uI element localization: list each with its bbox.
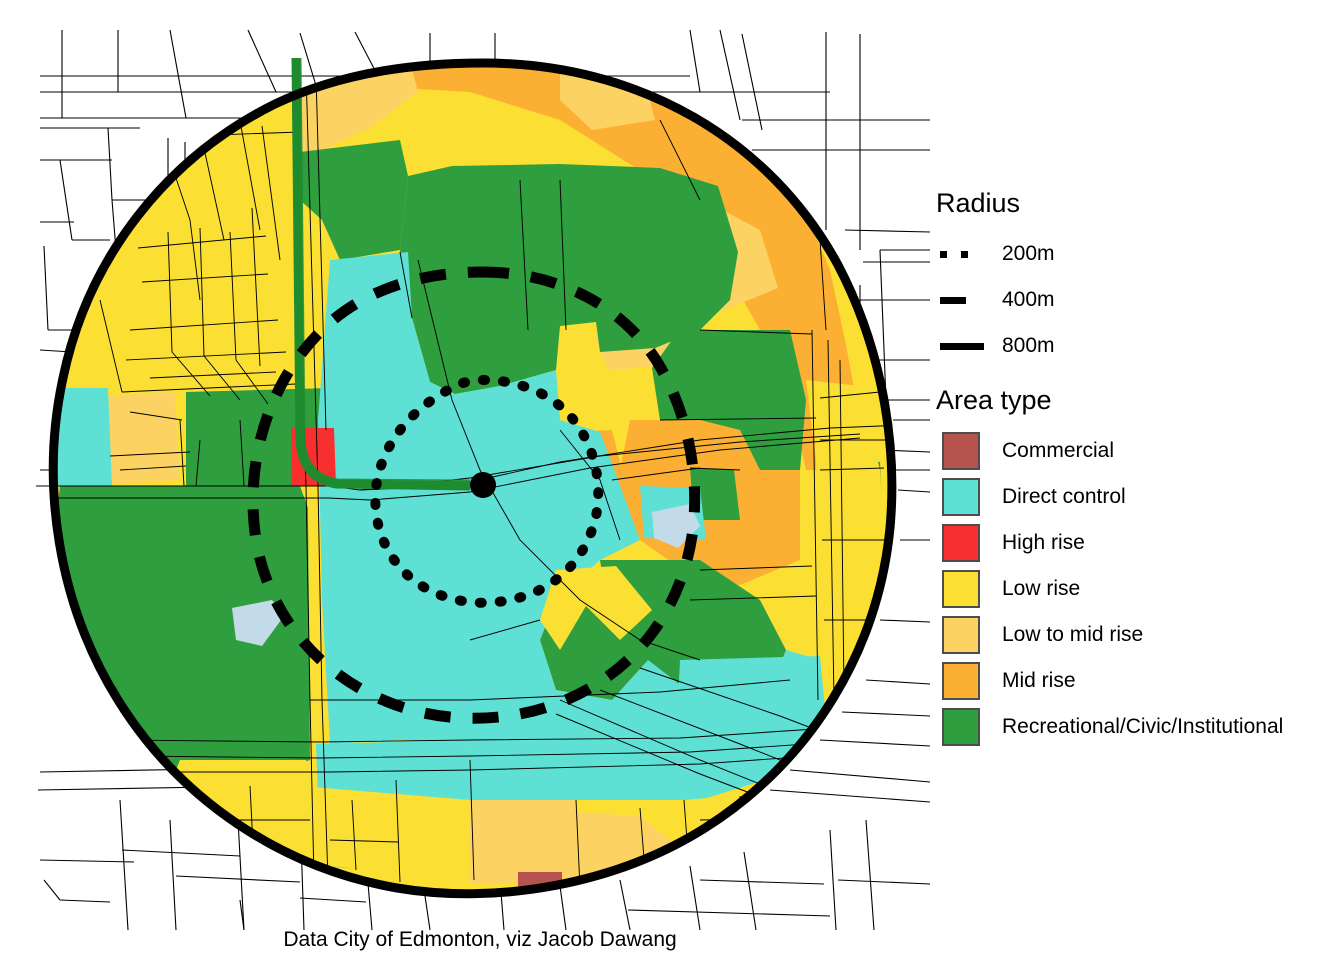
swatch-recreational	[930, 704, 992, 750]
legend-areatype-item-low-to-mid-rise[interactable]: Low to mid rise	[930, 612, 1344, 658]
swatch-direct-control	[930, 474, 992, 520]
swatch-high-rise	[930, 520, 992, 566]
legend-areatype-item-direct-control[interactable]: Direct control	[930, 474, 1344, 520]
legend-areatype-label-low-to-mid-rise: Low to mid rise	[992, 623, 1143, 647]
figure-caption: Data City of Edmonton, viz Jacob Dawang	[0, 928, 960, 952]
map-figure: Zoning around Mill Woods LRT station	[0, 0, 1344, 960]
legend-areatype-label-direct-control: Direct control	[992, 485, 1126, 509]
swatch-commercial-chip	[942, 432, 980, 470]
swatch-high-rise-chip	[942, 524, 980, 562]
legend-areatype-label-high-rise: High rise	[992, 531, 1085, 555]
zone-direct-control	[56, 388, 112, 486]
legend-areatype-item-commercial[interactable]: Commercial	[930, 428, 1344, 474]
legend-radius-item-400m[interactable]: 400m	[930, 277, 1344, 323]
legend-radius-item-200m[interactable]: 200m	[930, 231, 1344, 277]
swatch-mid-rise-chip	[942, 662, 980, 700]
swatch-low-rise	[930, 566, 992, 612]
legend-areatype-label-recreational: Recreational/Civic/Institutional	[992, 715, 1283, 739]
zone-low-mid-rise	[468, 798, 580, 884]
legend-areatype-label-mid-rise: Mid rise	[992, 669, 1076, 693]
legend-radius-item-800m[interactable]: 800m	[930, 323, 1344, 369]
radius-key-800m-icon	[930, 323, 992, 369]
legend-areatype-label-low-rise: Low rise	[992, 577, 1080, 601]
legend-areatype-label-commercial: Commercial	[992, 439, 1114, 463]
legend-radius-group: Radius 200m 400m	[930, 190, 1344, 369]
swatch-recreational-chip	[942, 708, 980, 746]
radius-key-400m-icon	[930, 277, 992, 323]
swatch-low-rise-chip	[942, 570, 980, 608]
legend-areatype-item-high-rise[interactable]: High rise	[930, 520, 1344, 566]
legend-radius-label-800m: 800m	[992, 334, 1055, 358]
radius-key-200m-icon	[930, 231, 992, 277]
legend-radius-label-200m: 200m	[992, 242, 1055, 266]
legend: Radius 200m 400m	[930, 190, 1344, 768]
legend-areatype-item-mid-rise[interactable]: Mid rise	[930, 658, 1344, 704]
swatch-mid-rise	[930, 658, 992, 704]
swatch-direct-control-chip	[942, 478, 980, 516]
legend-areatype-group: Area type Commercial Direct control High…	[930, 387, 1344, 750]
legend-radius-label-400m: 400m	[992, 288, 1055, 312]
legend-areatype-title: Area type	[936, 387, 1344, 414]
legend-areatype-item-recreational[interactable]: Recreational/Civic/Institutional	[930, 704, 1344, 750]
legend-radius-title: Radius	[936, 190, 1344, 217]
zone-low-rise	[396, 820, 470, 880]
swatch-low-to-mid-rise-chip	[942, 616, 980, 654]
swatch-commercial	[930, 428, 992, 474]
station-point	[470, 472, 496, 498]
legend-areatype-item-low-rise[interactable]: Low rise	[930, 566, 1344, 612]
map-canvas[interactable]	[0, 0, 930, 930]
swatch-low-to-mid-rise	[930, 612, 992, 658]
